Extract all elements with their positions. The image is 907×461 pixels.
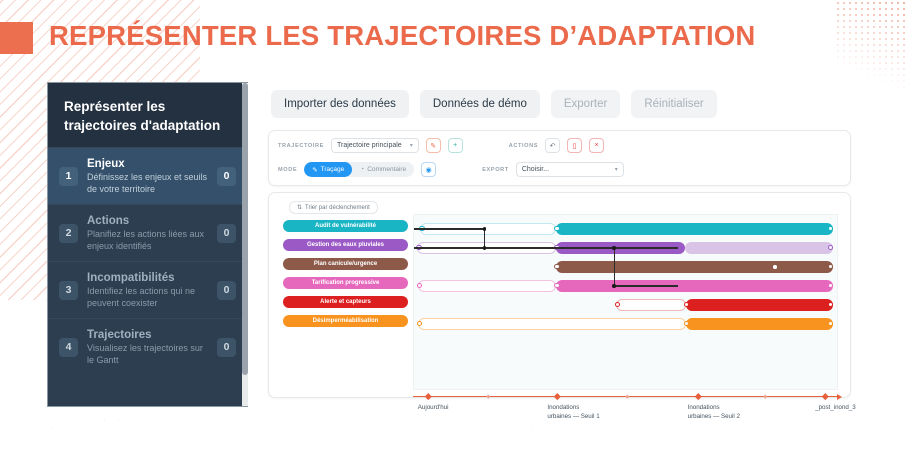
sidebar-item-label: Incompatibilités (87, 271, 208, 285)
axis-tick (487, 394, 491, 398)
dependency-link-node[interactable] (483, 246, 487, 250)
mode-label: MODE (278, 167, 297, 173)
dependency-link-horizontal (414, 247, 614, 248)
page-title: REPRÉSENTER LES TRAJECTOIRES D’ADAPTATIO… (49, 20, 755, 52)
undo-icon[interactable]: ↶ (545, 138, 560, 153)
mode-toggle-group: ✎ Traçage ◔ Commentaire (304, 162, 414, 177)
gantt-handle-trigger[interactable] (554, 264, 559, 269)
eye-icon[interactable]: ◉ (421, 162, 436, 177)
sort-button-label: Trier par déclenchement (305, 205, 370, 211)
dependency-link-vertical (614, 248, 615, 286)
sidebar-item-count: 0 (217, 167, 236, 186)
import-data-button[interactable]: Importer des données (271, 90, 409, 118)
dependency-link-node[interactable] (612, 246, 616, 250)
export-label: EXPORT (482, 167, 509, 173)
gantt-bar-active[interactable] (556, 223, 832, 235)
decorative-square (0, 22, 33, 54)
sidebar-scrollbar[interactable] (242, 83, 248, 406)
action-label-column: Audit de vulnérabilitéGestion des eaux p… (283, 220, 408, 334)
demo-data-button[interactable]: Données de démo (420, 90, 540, 118)
gantt-row[interactable] (414, 261, 839, 273)
sidebar-item-description: Visualisez les trajectoires sur le Gantt (87, 343, 208, 366)
axis-tick (695, 393, 701, 399)
sidebar-heading-line2: trajectoires d'adaptation (64, 116, 231, 135)
axis-tick-label: Inondations urbaines — Seuil 2 (688, 404, 740, 421)
action-label-pill[interactable]: Audit de vulnérabilité (283, 220, 408, 232)
gantt-milestone-dot[interactable] (773, 265, 777, 269)
gantt-bar-active[interactable] (556, 261, 832, 273)
gantt-bar-pending[interactable] (418, 280, 556, 292)
sort-icon: ⇅ (297, 204, 302, 211)
sidebar-scrollbar-thumb[interactable] (242, 83, 248, 375)
sidebar-item-label: Trajectoires (87, 328, 208, 342)
export-button[interactable]: Exporter (551, 90, 620, 118)
trajectory-select[interactable]: Trajectoire principale ▾ (331, 138, 419, 153)
mode-comment-label: Commentaire (367, 166, 406, 173)
sidebar-heading-line1: Représenter les (64, 97, 231, 116)
axis-tick (625, 394, 629, 398)
sidebar-item-enjeux[interactable]: 1 Enjeux Définissez les enjeux et seuils… (48, 147, 247, 204)
sidebar-item-description: Planifiez les actions liées aux enjeux i… (87, 229, 208, 252)
mode-trace-label: Traçage (321, 166, 345, 173)
sidebar-item-count: 0 (217, 338, 236, 357)
axis-tick (425, 393, 431, 399)
gantt-plot (413, 214, 838, 390)
actions-label: ACTIONS (509, 143, 538, 149)
sidebar-item-number: 4 (59, 338, 78, 357)
gantt-handle-trigger[interactable] (554, 226, 559, 231)
gantt-bar-active[interactable] (686, 299, 833, 311)
sidebar-header: Représenter les trajectoires d'adaptatio… (48, 83, 247, 147)
action-label-pill[interactable]: Alerte et capteurs (283, 296, 408, 308)
gantt-panel: ⇅ Trier par déclenchement Audit de vulné… (268, 192, 851, 398)
comment-icon: ◔ (360, 166, 364, 173)
trash-icon[interactable]: ▯ (567, 138, 582, 153)
axis-tick-label: _post_inond_3 (815, 404, 856, 413)
plus-icon[interactable]: + (448, 138, 463, 153)
control-panel: TRAJECTOIRE Trajectoire principale ▾ ✎ +… (268, 130, 851, 186)
trajectory-label: TRAJECTOIRE (278, 143, 324, 149)
dependency-link-horizontal (414, 228, 484, 229)
action-label-pill[interactable]: Plan canicule/urgence (283, 258, 408, 270)
sidebar-item-label: Enjeux (87, 157, 208, 171)
mode-trace-button[interactable]: ✎ Traçage (304, 162, 352, 177)
sidebar-item-count: 0 (217, 281, 236, 300)
sidebar-item-description: Identifiez les actions qui ne peuvent co… (87, 286, 208, 309)
app-screenshot: Représenter les trajectoires d'adaptatio… (47, 82, 859, 407)
gantt-bar-active[interactable] (686, 318, 833, 330)
sidebar-item-number: 2 (59, 224, 78, 243)
export-select-value: Choisir... (522, 166, 549, 173)
action-label-pill[interactable]: Tarification progressive (283, 277, 408, 289)
sidebar-item-label: Actions (87, 214, 208, 228)
pencil-icon: ✎ (312, 166, 317, 174)
dependency-link-node[interactable] (612, 284, 616, 288)
gantt-row[interactable] (414, 318, 839, 330)
export-select[interactable]: Choisir... ▾ (516, 162, 624, 177)
gantt-handle-trigger[interactable] (554, 283, 559, 288)
sidebar-item-trajectoires[interactable]: 4 Trajectoires Visualisez les trajectoir… (48, 318, 247, 375)
dependency-link-node[interactable] (483, 227, 487, 231)
gantt-bar-projection[interactable] (685, 242, 833, 254)
sidebar-item-actions[interactable]: 2 Actions Planifiez les actions liées au… (48, 204, 247, 261)
sidebar-item-number: 1 (59, 167, 78, 186)
pencil-icon[interactable]: ✎ (426, 138, 441, 153)
toolbar: Importer des données Données de démo Exp… (271, 90, 717, 118)
axis-tick-label: Inondations urbaines — Seuil 1 (547, 404, 599, 421)
close-icon[interactable]: × (589, 138, 604, 153)
gantt-row[interactable] (414, 299, 839, 311)
gantt-bar-pending[interactable] (418, 318, 686, 330)
reset-button[interactable]: Réinitialiser (631, 90, 716, 118)
gantt-bar-pending[interactable] (616, 299, 686, 311)
axis-tick (763, 394, 767, 398)
action-label-pill[interactable]: Gestion des eaux pluviales (283, 239, 408, 251)
chevron-down-icon: ▾ (615, 166, 618, 173)
gantt-bar-active[interactable] (556, 280, 832, 292)
sidebar-item-incompatibilites[interactable]: 3 Incompatibilités Identifiez les action… (48, 261, 247, 318)
sidebar-item-count: 0 (217, 224, 236, 243)
axis-tick-label: Aujourd'hui (418, 404, 449, 413)
sort-by-trigger-button[interactable]: ⇅ Trier par déclenchement (289, 201, 378, 214)
action-label-pill[interactable]: Désimperméabilisation (283, 315, 408, 327)
sidebar-item-number: 3 (59, 281, 78, 300)
dependency-link-vertical (484, 229, 485, 248)
dependency-link-horizontal (614, 285, 678, 286)
sidebar-item-description: Définissez les enjeux et seuils de votre… (87, 172, 208, 195)
axis-tick (822, 393, 828, 399)
mode-comment-button[interactable]: ◔ Commentaire (352, 162, 414, 177)
axis-tick (554, 393, 560, 399)
trajectory-select-value: Trajectoire principale (337, 142, 402, 149)
main-content: Importer des données Données de démo Exp… (260, 82, 859, 407)
chevron-down-icon: ▾ (410, 142, 413, 149)
sidebar: Représenter les trajectoires d'adaptatio… (47, 82, 248, 407)
